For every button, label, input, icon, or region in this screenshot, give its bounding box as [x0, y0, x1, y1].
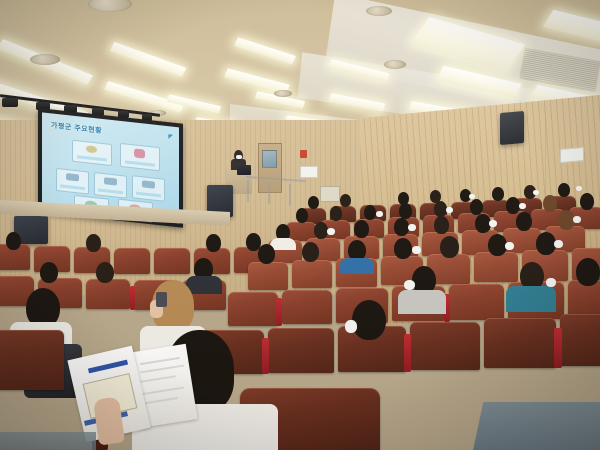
face-mask [412, 246, 421, 254]
face-mask [489, 220, 497, 227]
slide-diagram-box [132, 175, 165, 202]
audience-head [330, 206, 342, 221]
face-mask [404, 280, 415, 290]
slide-diagram-box [72, 140, 112, 166]
wall-notice-sign [300, 166, 318, 178]
carpet-floor [473, 402, 600, 450]
seat[interactable] [292, 260, 332, 288]
face-mask [446, 207, 453, 213]
audience-head [206, 234, 221, 252]
slide-diagram-box [94, 172, 127, 199]
auditorium-photo: 가평군 주요현황 ◤ [0, 0, 600, 450]
presenter-face-mask [236, 155, 242, 159]
audience-head [86, 234, 101, 252]
audience-head [352, 300, 386, 340]
audience-head [576, 258, 600, 286]
seat[interactable] [228, 292, 278, 326]
slide-box-caption [77, 155, 107, 161]
face-mask [505, 242, 514, 250]
audience-head [354, 220, 369, 238]
seat[interactable] [282, 290, 332, 324]
slide-icon [86, 145, 97, 153]
wall-notice-sign [560, 147, 584, 163]
seat[interactable] [154, 248, 190, 274]
face-mask [576, 186, 582, 191]
stage-railing [247, 180, 249, 202]
audience-head [394, 218, 409, 236]
face-mask [408, 224, 416, 231]
seat[interactable] [449, 284, 504, 320]
slide-icon [104, 177, 117, 185]
audience-head [296, 208, 308, 223]
audience-head [314, 222, 328, 239]
slide-icon [142, 180, 155, 188]
seat[interactable] [86, 279, 130, 309]
audience-head [340, 194, 351, 207]
wall-control-panel[interactable] [320, 186, 340, 202]
seat[interactable] [0, 330, 64, 390]
smoke-detector [366, 6, 392, 16]
audience-head [308, 196, 319, 209]
smoke-detector [274, 90, 292, 97]
slide-diagram-box [120, 143, 160, 171]
smartphone[interactable] [156, 292, 167, 307]
audience-head [516, 212, 532, 231]
slide-icon [66, 173, 79, 181]
seat-fabric-edge [554, 328, 562, 368]
slide-box-caption [60, 184, 85, 190]
audience-head [506, 197, 520, 214]
seat[interactable] [114, 248, 150, 274]
audience-shoulders [186, 276, 222, 294]
audience-head [543, 195, 557, 212]
slide-box-caption [98, 189, 123, 195]
seat-fabric-edge [262, 338, 269, 374]
seat[interactable] [268, 328, 334, 373]
seat[interactable] [560, 314, 600, 366]
stage-railing [289, 184, 291, 206]
carpet-floor [0, 432, 96, 450]
audience-head [434, 216, 449, 234]
track-spotlight [2, 98, 18, 107]
slide-box-caption [136, 192, 161, 198]
audience-head [302, 242, 319, 262]
face-mask [376, 211, 383, 217]
face-mask [546, 278, 556, 287]
audience-head [536, 232, 556, 255]
face-mask [345, 320, 357, 333]
slide-title: 가평군 주요현황 [51, 120, 102, 136]
smoke-detector [384, 60, 406, 69]
audience-head [96, 262, 114, 283]
audience-head [470, 199, 483, 215]
audience-shoulders [398, 290, 446, 314]
stage-railing [268, 182, 270, 204]
seat-fabric-edge [404, 334, 411, 372]
seat-fabric-edge [276, 298, 282, 326]
face-mask [573, 216, 581, 223]
seat[interactable] [410, 322, 480, 370]
door-window [262, 150, 277, 168]
audience-head [492, 187, 504, 201]
slide-diagram-box [56, 168, 89, 195]
audience-head [6, 232, 21, 250]
audience-shoulders [506, 286, 556, 312]
seat-fabric-edge [130, 286, 135, 310]
seat[interactable] [474, 252, 518, 282]
audience-head [558, 183, 570, 197]
audience-head [40, 262, 58, 283]
slide-icon [134, 148, 145, 158]
fire-alarm-sign [300, 150, 307, 158]
slide-box-caption [125, 160, 155, 166]
seat[interactable] [484, 318, 556, 368]
wall-mounted-loudspeaker [500, 111, 524, 145]
audience-head [364, 205, 376, 220]
seat[interactable] [248, 262, 288, 290]
slide-logo: ◤ [168, 133, 173, 141]
lectern-monitor [237, 165, 251, 175]
face-mask [554, 240, 563, 248]
audience-head [399, 203, 412, 219]
audience-shoulders [340, 258, 374, 274]
smoke-detector [30, 54, 60, 65]
audience-head [440, 236, 459, 258]
audience-head [258, 244, 275, 264]
face-mask [327, 228, 335, 235]
audience-head [394, 238, 412, 259]
audience-head [580, 193, 594, 210]
face-mask [519, 203, 526, 209]
face-mask [533, 190, 539, 195]
